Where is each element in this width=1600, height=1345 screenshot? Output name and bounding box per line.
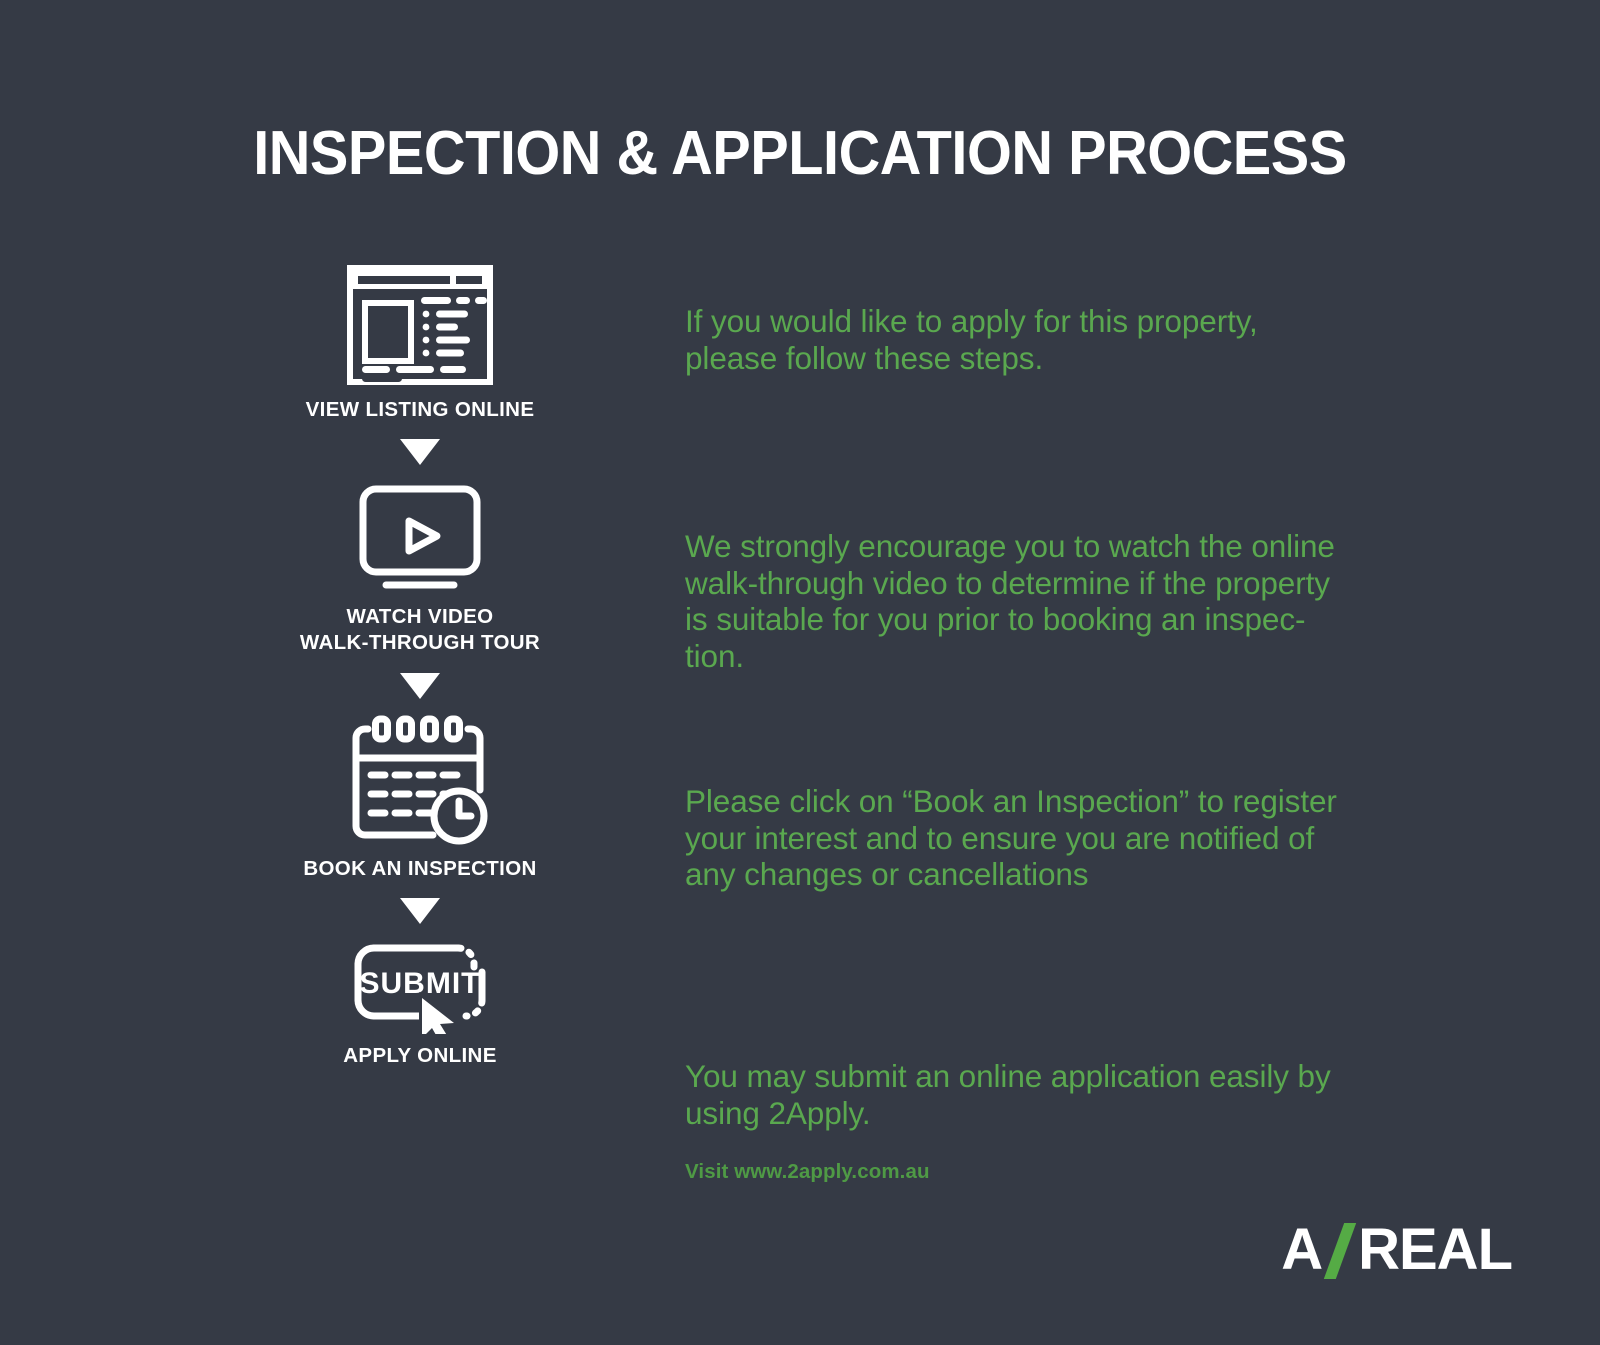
copy-step-2: We strongly encourage you to watch the o… bbox=[685, 528, 1395, 675]
down-triangle-arrow-icon bbox=[275, 673, 565, 699]
flow-step-label: WATCH VIDEO WALK-THROUGH TOUR bbox=[275, 604, 565, 656]
copy-step-1: If you would like to apply for this prop… bbox=[685, 303, 1395, 376]
flow-step-label: BOOK AN INSPECTION bbox=[275, 856, 565, 882]
visit-url-text: Visit www.2apply.com.au bbox=[685, 1160, 930, 1184]
process-flow-column: VIEW LISTING ONLINE WATCH VIDEO WALK-THR… bbox=[275, 262, 565, 1069]
flow-step-label: APPLY ONLINE bbox=[275, 1043, 565, 1069]
down-triangle-arrow-icon bbox=[275, 898, 565, 924]
flow-step-watch-video: WATCH VIDEO WALK-THROUGH TOUR bbox=[275, 479, 565, 656]
logo-slash-icon bbox=[1323, 1222, 1357, 1278]
video-play-screen-icon bbox=[275, 479, 565, 595]
logo-word-real: REAL bbox=[1358, 1216, 1512, 1283]
submit-button-cursor-icon: SUBMIT bbox=[275, 938, 565, 1034]
flow-step-book-inspection: BOOK AN INSPECTION bbox=[275, 713, 565, 882]
down-triangle-arrow-icon bbox=[275, 439, 565, 465]
copy-step-4: You may submit an online application eas… bbox=[685, 1058, 1395, 1131]
flow-step-view-listing: VIEW LISTING ONLINE bbox=[275, 262, 565, 423]
calendar-clock-icon bbox=[275, 713, 565, 847]
copy-step-3: Please click on “Book an Inspection” to … bbox=[685, 783, 1395, 893]
inspection-application-process-poster: INSPECTION & APPLICATION PROCESS bbox=[0, 0, 1600, 1345]
logo-letter-a: A bbox=[1281, 1216, 1322, 1283]
flow-step-label: VIEW LISTING ONLINE bbox=[275, 397, 565, 423]
page-title: INSPECTION & APPLICATION PROCESS bbox=[56, 118, 1544, 189]
browser-listing-icon bbox=[275, 262, 565, 388]
flow-step-apply-online: SUBMIT APPLY ONLINE bbox=[275, 938, 565, 1069]
brand-logo: A REAL bbox=[1281, 1216, 1512, 1283]
